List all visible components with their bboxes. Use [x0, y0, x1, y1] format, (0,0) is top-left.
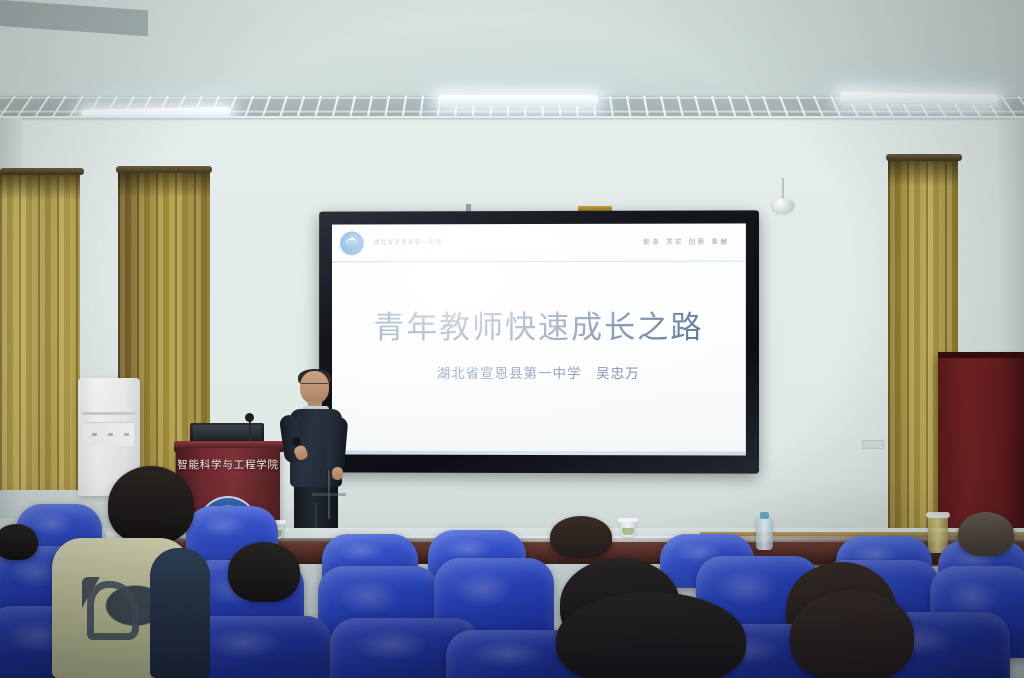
- attendee-far-right-head: [958, 512, 1014, 556]
- lectern-banner-text: 智能科学与工程学院: [176, 457, 280, 472]
- attendee-far-left-head: [0, 524, 38, 560]
- laptop-screen: [193, 425, 261, 440]
- slide-title: 青年教师快速成长之路: [332, 302, 746, 347]
- ceiling-tube-light-center: [438, 95, 598, 106]
- slide-header-motto: 勤奋 求实 创新 奉献: [643, 236, 730, 246]
- attendee-front-left-shoulder: [150, 548, 210, 678]
- attendee-front-left-head: [108, 466, 194, 544]
- slide-header-school-name: 湖北省宣恩县第一中学: [374, 237, 443, 246]
- display-bottom-reflection: [332, 451, 746, 456]
- ceiling-corner-shadow: [0, 0, 148, 36]
- attendee-bottom-center-hair: [556, 592, 746, 678]
- presenter-laptop: [190, 423, 264, 443]
- school-crest-logo: [338, 229, 366, 257]
- ac-control-panel: [84, 422, 134, 446]
- presentation-display: 湖北省宣恩县第一中学 勤奋 求实 创新 奉献 青年教师快速成长之路 湖北省宣恩县…: [319, 210, 759, 473]
- curtain-rod-left-inner: [116, 166, 212, 173]
- curtain-left-outer: [0, 170, 80, 490]
- attendee-head-left-small: [228, 542, 300, 602]
- display-screen: 湖北省宣恩县第一中学 勤奋 求实 创新 奉献 青年教师快速成长之路 湖北省宣恩县…: [332, 223, 746, 455]
- presenter-right-arm: [326, 416, 349, 473]
- presentation-slide: 湖北省宣恩县第一中学 勤奋 求实 创新 奉献 青年教师快速成长之路 湖北省宣恩县…: [332, 223, 746, 455]
- wall-ceiling-seam: [0, 118, 1024, 121]
- ac-led-3: [124, 433, 129, 436]
- ac-led-2: [108, 433, 113, 436]
- attendee-head-center-far: [550, 516, 612, 558]
- gooseneck-microphone-head-icon: [245, 413, 254, 422]
- slide-header: 湖北省宣恩县第一中学 勤奋 求实 创新 奉献: [332, 223, 746, 262]
- curtain-rod-right: [886, 154, 962, 161]
- presenter-with-microphone: [276, 371, 352, 539]
- slide-header-rule: [332, 260, 746, 262]
- water-bottle: [756, 518, 773, 550]
- ac-vent-slot: [82, 412, 136, 415]
- ac-led-1: [92, 433, 97, 436]
- curtain-folds: [0, 170, 80, 490]
- presenter-right-hand: [332, 467, 343, 480]
- hanging-wall-lamp-icon: [772, 198, 794, 213]
- jacket-pocket: [312, 493, 346, 496]
- slide-subtitle: 湖北省宣恩县第一中学 吴忠万: [332, 362, 746, 382]
- water-cup-2: [620, 520, 636, 537]
- wall-outlet: [862, 440, 884, 449]
- curtain-rod-left: [0, 168, 84, 175]
- attendee-bottom-right-hair: [790, 590, 914, 678]
- presenter-glasses-icon: [301, 383, 328, 389]
- lecture-hall-photo: 湖北省宣恩县第一中学 勤奋 求实 创新 奉献 青年教师快速成长之路 湖北省宣恩县…: [0, 0, 1024, 678]
